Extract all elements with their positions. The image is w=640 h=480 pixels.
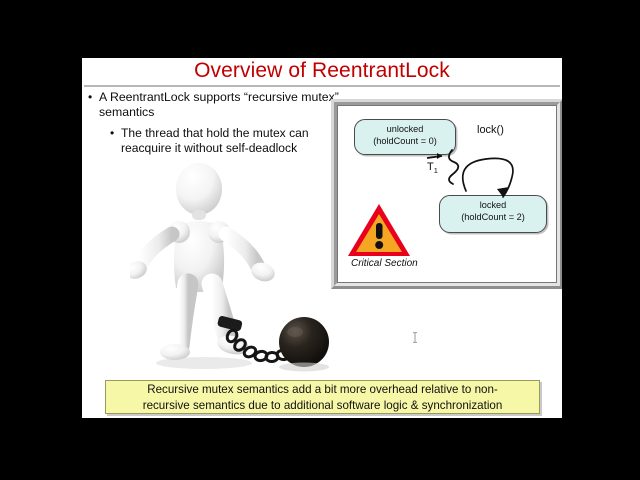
page-title: Overview of ReentrantLock — [82, 59, 562, 83]
critical-section-label: Critical Section — [351, 258, 418, 269]
reentrant-lock-state-diagram: unlocked (holdCount = 0) locked (holdCou… — [331, 99, 562, 289]
callout-line-1: Recursive mutex semantics add a bit more… — [106, 382, 539, 398]
text-caret-icon — [412, 332, 418, 343]
lock-call-label: lock() — [477, 124, 504, 136]
thread-label-subscript: 1 — [434, 166, 438, 175]
man-with-ball-and-chain-figure — [130, 158, 330, 388]
list-item: • The thread that hold the mutex can rea… — [110, 126, 354, 156]
title-divider — [84, 85, 560, 87]
summary-callout: Recursive mutex semantics add a bit more… — [105, 380, 540, 414]
diagram-face: unlocked (holdCount = 0) locked (holdCou… — [337, 105, 557, 283]
screen-root: Overview of ReentrantLock • A ReentrantL… — [0, 0, 640, 480]
bullet-marker: • — [88, 90, 99, 120]
callout-line-2: recursive semantics due to additional so… — [106, 398, 539, 414]
diagram-bevel: unlocked (holdCount = 0) locked (holdCou… — [334, 102, 560, 286]
list-item: • A ReentrantLock supports “recursive mu… — [88, 90, 354, 120]
thread-label-text: T — [427, 161, 434, 173]
bullet-list: • A ReentrantLock supports “recursive mu… — [88, 90, 354, 156]
thread-label: T1 — [427, 161, 438, 175]
slide-canvas: Overview of ReentrantLock • A ReentrantL… — [82, 58, 562, 418]
warning-triangle-icon — [346, 201, 412, 259]
bullet-text: The thread that hold the mutex can reacq… — [121, 126, 354, 156]
bullet-marker: • — [110, 126, 121, 156]
bullet-text: A ReentrantLock supports “recursive mute… — [99, 90, 354, 120]
